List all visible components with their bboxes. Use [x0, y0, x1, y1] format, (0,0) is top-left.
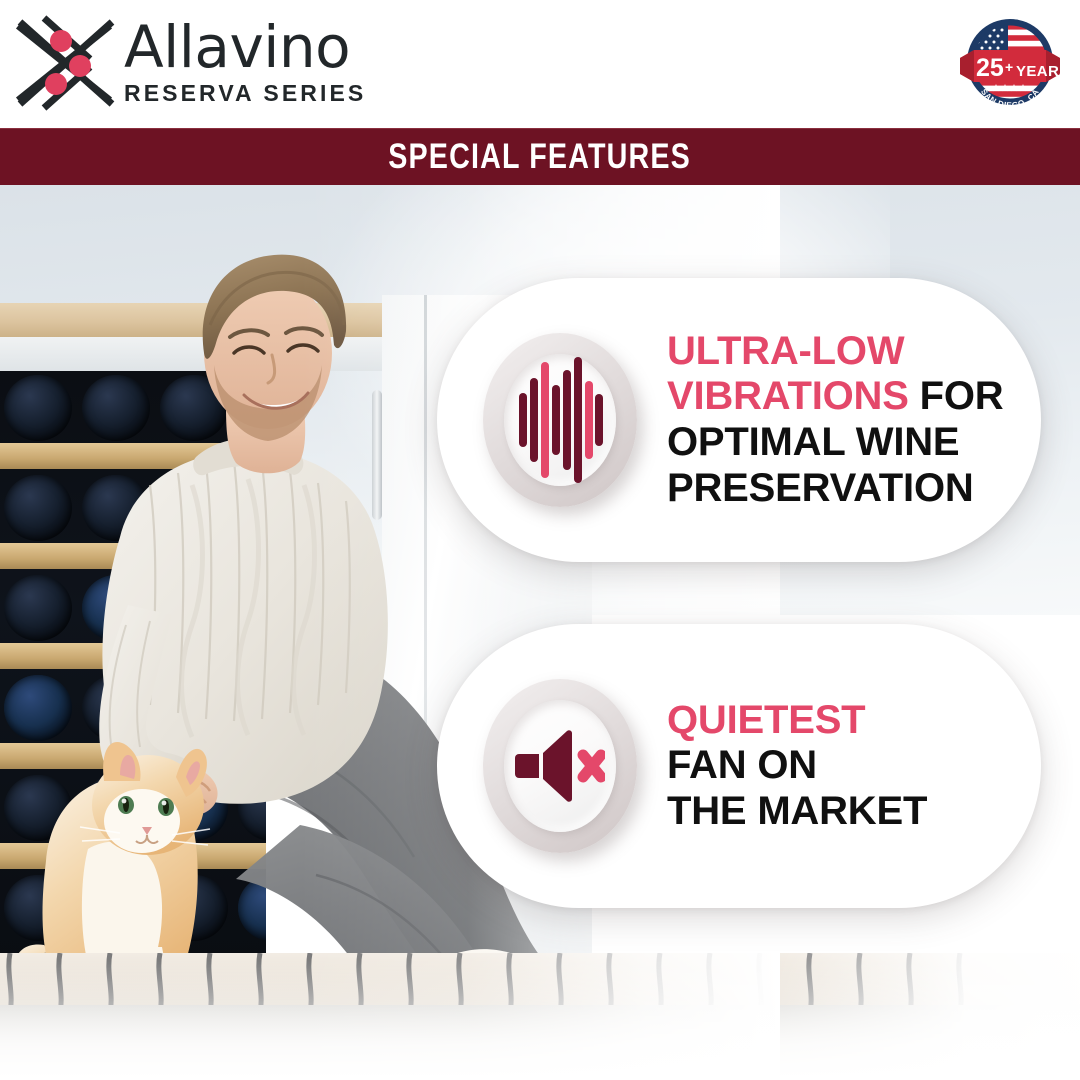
icon-ring-inner — [504, 700, 616, 832]
diamond-lattice-logo-icon — [14, 14, 118, 112]
feature-card-quietest-fan[interactable]: QUIETEST FAN ON THE MARKET — [437, 624, 1041, 908]
brand-name: Allavino — [124, 20, 366, 76]
badge-years-number: 25 — [976, 54, 1004, 82]
feature-line-plain: PRESERVATION — [667, 466, 974, 510]
usa-flag-seal-badge-icon: SAN DIEGO, CA 25 + YEARS — [958, 14, 1062, 114]
badge-plus: + — [1005, 59, 1013, 75]
feature-line-plain: THE MARKET — [667, 789, 927, 833]
feature-line-plain: FOR — [909, 374, 1004, 418]
feature-line-plain: FAN ON — [667, 743, 817, 787]
feature-line-plain: OPTIMAL WINE — [667, 420, 959, 464]
banner-title: SPECIAL FEATURES — [389, 137, 692, 177]
feature-line-accent: VIBRATIONS — [667, 374, 909, 418]
badge-years-label: YEARS — [1016, 63, 1062, 80]
man-and-cat-illustration — [0, 185, 560, 1065]
icon-ring-outer — [483, 333, 637, 507]
icon-ring-outer — [483, 679, 637, 853]
feature-text-quietest-fan: QUIETEST FAN ON THE MARKET — [667, 698, 953, 835]
page-header: Allavino RESERVA SERIES — [0, 0, 1080, 128]
icon-ring-inner — [504, 354, 616, 486]
speaker-mute-icon — [515, 727, 605, 805]
special-features-banner: SPECIAL FEATURES — [0, 128, 1080, 185]
brand-logo[interactable]: Allavino RESERVA SERIES — [14, 14, 366, 112]
infographic-root: ULTRA-LOW VIBRATIONS FOR OPTIMAL WINE PR… — [0, 0, 1080, 1080]
vibration-waveform-icon — [517, 355, 603, 485]
feature-line-accent: QUIETEST — [667, 698, 865, 742]
photo-corner-fade — [760, 885, 1080, 1080]
brand-series: RESERVA SERIES — [124, 79, 366, 108]
feature-text-vibrations: ULTRA-LOW VIBRATIONS FOR OPTIMAL WINE PR… — [667, 329, 1029, 511]
feature-card-vibrations[interactable]: ULTRA-LOW VIBRATIONS FOR OPTIMAL WINE PR… — [437, 278, 1041, 562]
feature-line-accent: ULTRA-LOW — [667, 329, 904, 373]
